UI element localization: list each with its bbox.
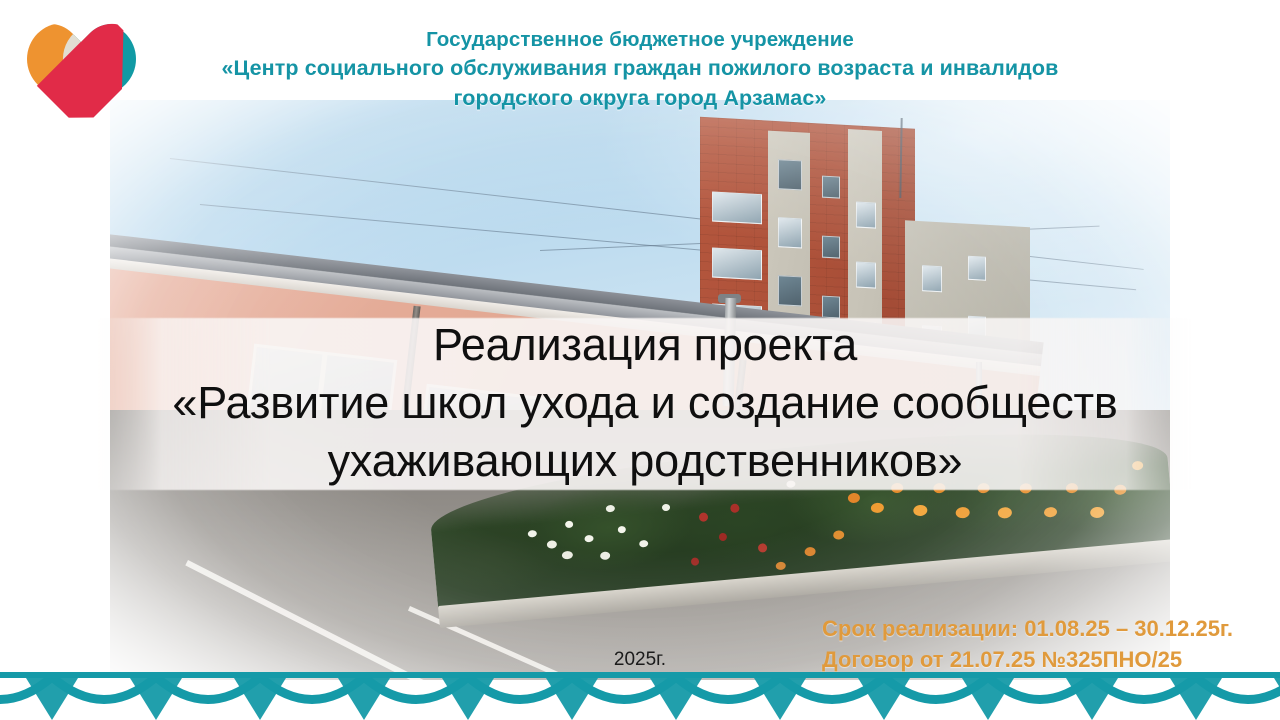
window <box>712 191 762 224</box>
window <box>856 261 876 288</box>
scalloped-arch-border <box>0 672 1280 720</box>
window <box>778 159 802 190</box>
page-title: Реализация проекта «Развитие школ ухода … <box>60 316 1230 490</box>
title-line-3: ухаживающих родственников» <box>60 432 1230 490</box>
window <box>778 217 802 248</box>
organization-name: Государственное бюджетное учреждение «Це… <box>170 26 1110 114</box>
window <box>822 236 840 259</box>
organization-line-3: городского округа город Арзамас» <box>170 84 1110 114</box>
contract-number: Договор от 21.07.25 №325ПНО/25 <box>822 644 1242 675</box>
organization-line-2: «Центр социального обслуживания граждан … <box>170 54 1110 84</box>
window <box>778 275 802 306</box>
organization-line-1: Государственное бюджетное учреждение <box>170 26 1110 54</box>
title-line-1: Реализация проекта <box>60 316 1230 374</box>
window <box>968 256 986 281</box>
window <box>712 247 762 280</box>
heart-logo <box>18 14 144 132</box>
project-terms: Срок реализации: 01.08.25 – 30.12.25г. Д… <box>822 613 1242 675</box>
window <box>822 176 840 199</box>
presentation-slide: Государственное бюджетное учреждение «Це… <box>0 0 1280 720</box>
window <box>856 201 876 228</box>
implementation-period: Срок реализации: 01.08.25 – 30.12.25г. <box>822 613 1242 644</box>
title-line-2: «Развитие школ ухода и создание сообщест… <box>60 374 1230 432</box>
window <box>922 265 942 292</box>
